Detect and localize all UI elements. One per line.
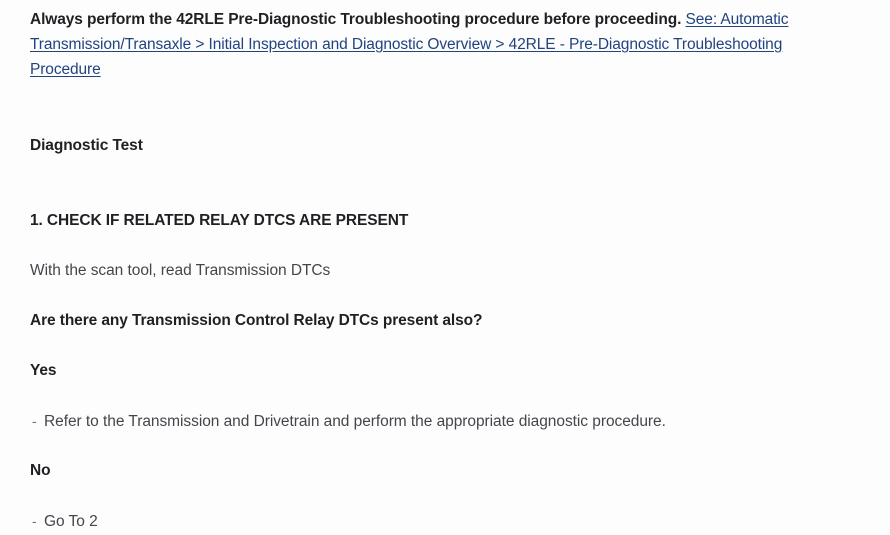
list-dash-icon: - — [30, 410, 44, 432]
section-title: Diagnostic Test — [30, 135, 790, 157]
step-question: Are there any Transmission Control Relay… — [30, 310, 790, 332]
document-page: Always perform the 42RLE Pre-Diagnostic … — [0, 0, 890, 535]
answer-label-yes: Yes — [30, 360, 790, 382]
answer-text-no: Go To 2 — [44, 511, 98, 533]
answer-item-no: - Go To 2 — [30, 510, 790, 533]
intro-paragraph: Always perform the 42RLE Pre-Diagnostic … — [30, 7, 790, 82]
step-title: 1. CHECK IF RELATED RELAY DTCS ARE PRESE… — [30, 210, 790, 232]
list-dash-icon: - — [30, 510, 44, 532]
answer-text-yes: Refer to the Transmission and Drivetrain… — [44, 411, 666, 433]
intro-lead-text: Always perform the 42RLE Pre-Diagnostic … — [30, 11, 681, 28]
step-instruction: With the scan tool, read Transmission DT… — [30, 260, 790, 282]
answer-label-no: No — [30, 460, 790, 482]
answer-item-yes: - Refer to the Transmission and Drivetra… — [30, 410, 790, 433]
